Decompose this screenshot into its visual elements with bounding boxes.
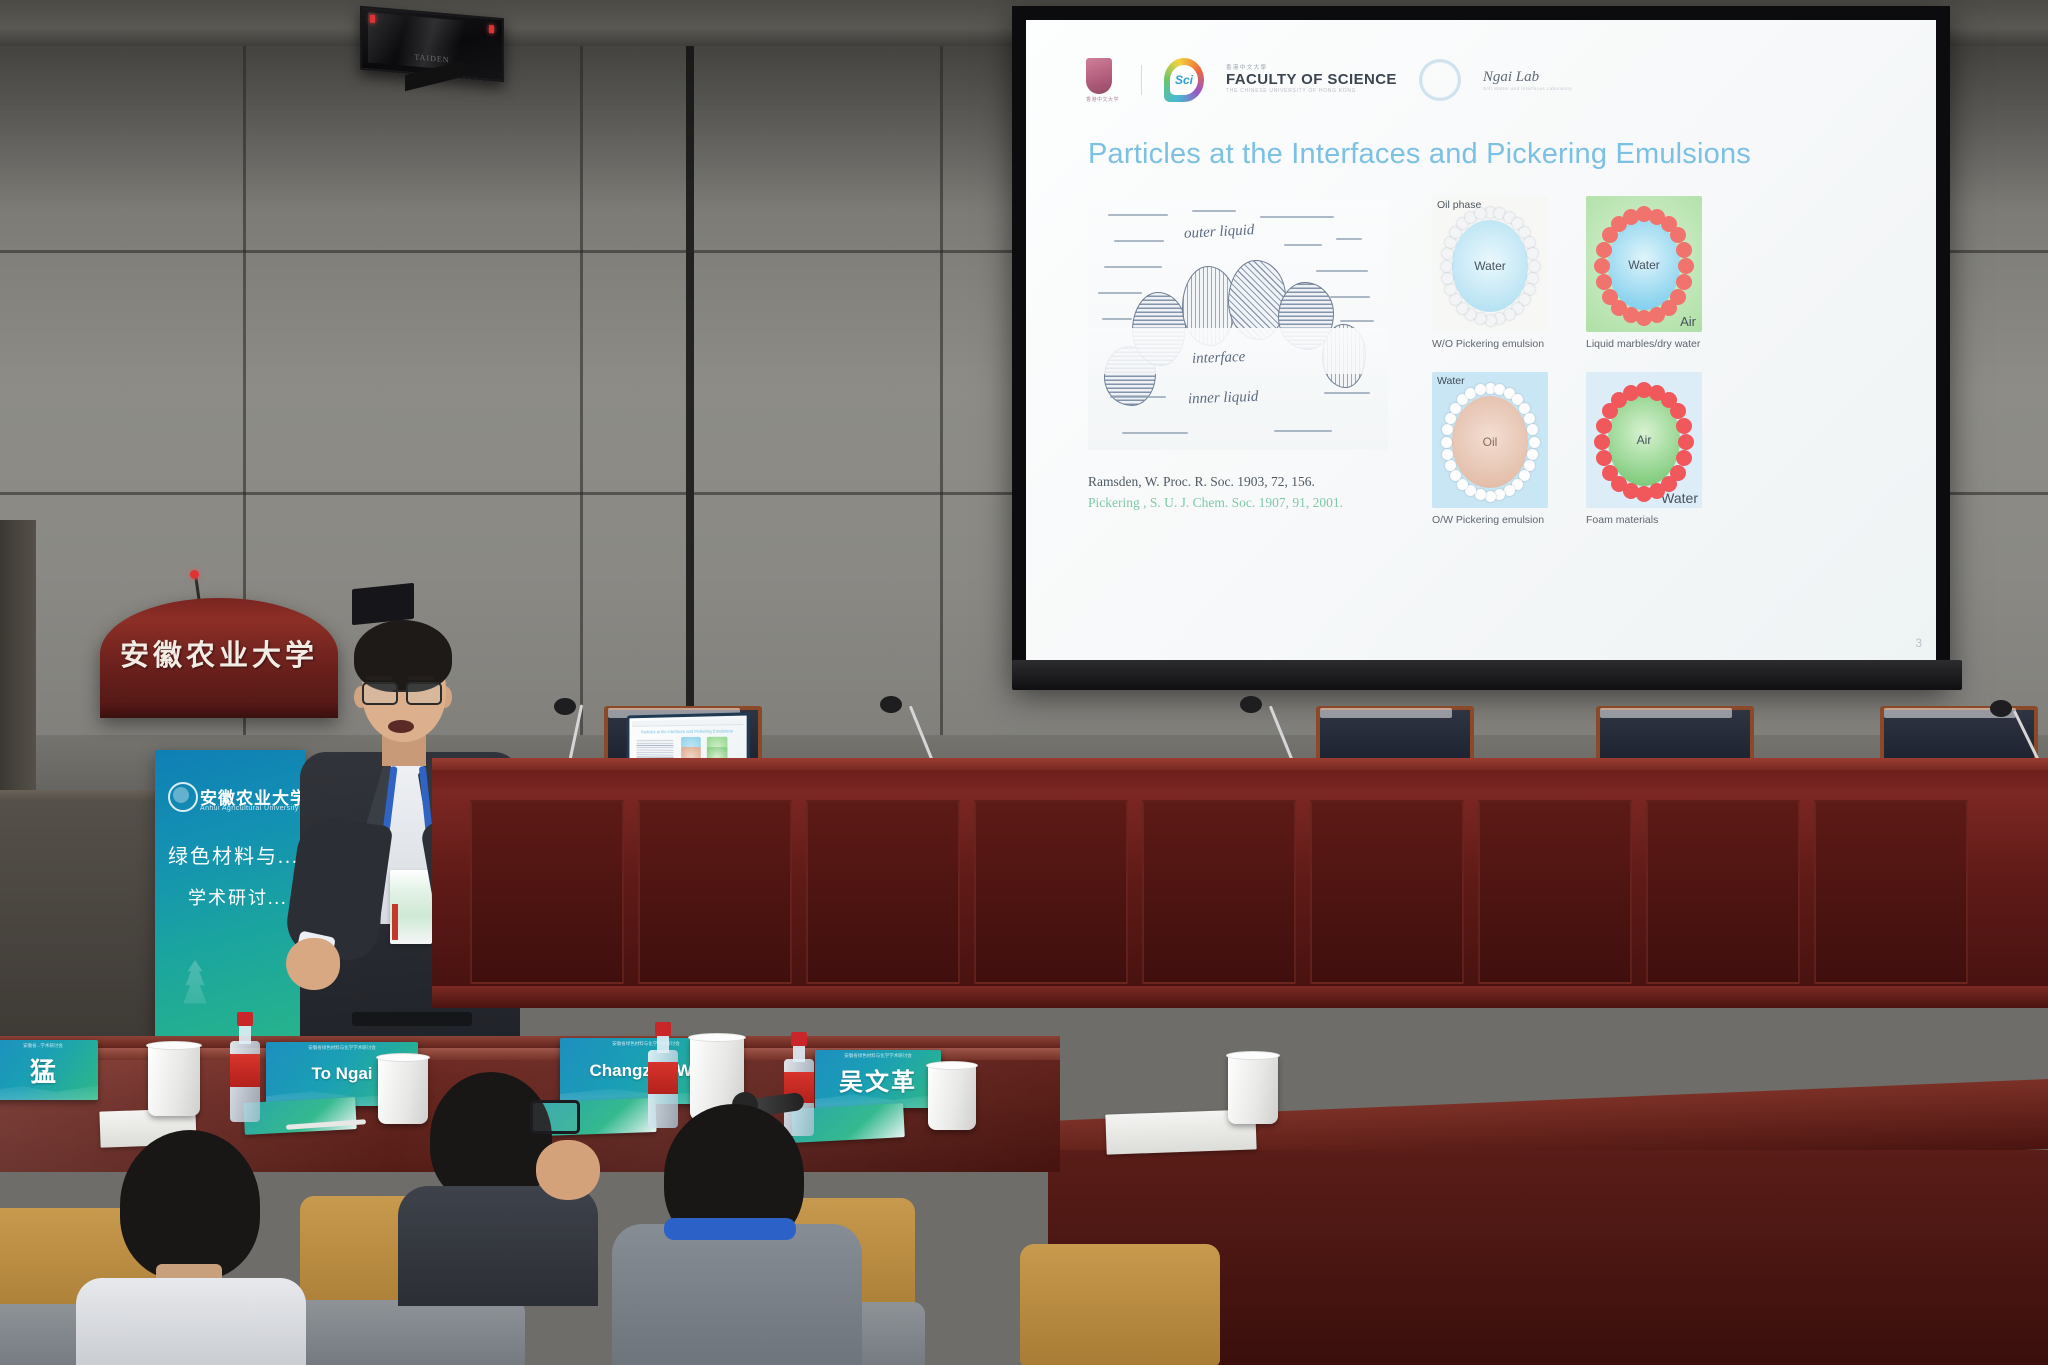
interface-hand-drawing: outer liquid interface inner liquid [1088,200,1388,450]
audience-hand [536,1140,600,1200]
table-panel [1478,800,1632,984]
panel-corner-label: Oil phase [1437,199,1481,211]
paper-cup [1228,1054,1278,1124]
particle-bead [1442,449,1453,460]
particle-bead [1623,209,1639,225]
particle-bead [1527,449,1538,460]
speaker-mouth [388,720,414,733]
panel-ow-pickering: Water Oil O/W Pickering emulsion [1432,372,1548,526]
wall-seam [940,46,943,746]
label-outer-liquid: outer liquid [1184,222,1255,243]
particle-bead [1504,485,1515,496]
audience-shirt [612,1224,862,1365]
paper-cup [148,1044,200,1116]
speaker-hand-left [286,938,340,990]
particle-bead [1445,460,1456,471]
faculty-wordmark: 香港中文大學 FACULTY OF SCIENCE THE CHINESE UN… [1226,66,1397,94]
particle-bead [1596,242,1612,258]
table-panel [638,800,792,984]
speaker-brow [366,676,392,680]
cuhk-logo: 香港中文大学 [1086,58,1119,103]
water-bottle [648,1022,678,1128]
microphone-head-icon [554,698,576,715]
particle-bead [1529,437,1540,448]
panel-corner-label: Air [1680,314,1696,329]
speaker-glasses [362,682,398,705]
particle-bead [1504,309,1515,320]
paper-cup [928,1064,976,1130]
placard-subtitle: 安徽省绿色材料与化学学术研讨会 [815,1053,941,1059]
particle-bead [1594,434,1610,450]
audience-shirt [76,1278,306,1365]
water-bottle [230,1012,260,1122]
particle-bead [1445,237,1456,248]
particle-bead [1527,273,1538,284]
panel-corner-label: Water [1437,375,1465,387]
speaker-belt [352,1012,472,1026]
particle-bead [1596,418,1612,434]
water-bottle [784,1032,814,1136]
sci-mark-label: Sci [1170,65,1198,95]
power-led-icon [370,15,375,23]
cuhk-logo-caption: 香港中文大学 [1086,96,1119,103]
speaker-brow [408,676,434,680]
panel-liquid-marbles: Air Water Liquid marbles/dry water [1586,196,1702,350]
particle-bead [1594,258,1610,274]
particle-bead [1485,315,1496,326]
panel-caption: Liquid marbles/dry water [1586,338,1702,350]
podium-indicator-icon [190,570,199,579]
panel-core-label: Water [1452,220,1528,312]
speaker-glasses [406,682,442,705]
particle-bead [1529,261,1540,272]
laptop-slide-title: Particles at the Interfaces and Pickerin… [635,728,740,734]
slide-page-number: 3 [1915,636,1922,650]
table-panel [1142,800,1296,984]
particle-bead [1442,273,1453,284]
presentation-slide: 香港中文大学 Sci 香港中文大學 FACULTY OF SCIENCE THE… [1026,20,1936,660]
placard-name: To Ngai [311,1064,372,1084]
particle-bead [1527,248,1538,259]
audience-lanyard [664,1218,796,1240]
table-panel [470,800,624,984]
panel-core-label: Oil [1452,396,1528,488]
podium-monitor [352,583,414,626]
placard-name: 猛 [30,1052,56,1089]
particle-bead [1457,303,1468,314]
audience-jacket [398,1186,598,1306]
particle-bead [1602,465,1618,481]
particle-bead [1485,491,1496,502]
panel-caption: W/O Pickering emulsion [1432,338,1548,350]
reference-pickering: Pickering , S. U. J. Chem. Soc. 1907, 91… [1088,493,1343,514]
microphone-head-icon [1990,700,2012,717]
slide-logo-row: 香港中文大学 Sci 香港中文大學 FACULTY OF SCIENCE THE… [1086,52,1572,108]
projection-screen: 香港中文大学 Sci 香港中文大學 FACULTY OF SCIENCE THE… [1026,20,1936,660]
particle-bead [1475,489,1486,500]
particle-bead [1441,437,1452,448]
reference-ramsden: Ramsden, W. Proc. R. Soc. 1903, 72, 156. [1088,472,1343,493]
particle-bead [1623,385,1639,401]
particle-bead [1596,450,1612,466]
panel-wo-pickering: Oil phase Water W/O Pickering emulsion [1432,196,1548,350]
panel-caption: Foam materials [1586,514,1702,526]
laptop-menubar [632,719,743,727]
table-panel [1310,800,1464,984]
particle-bead [1445,413,1456,424]
particle-bead [1475,313,1486,324]
wall-seam [580,46,583,746]
microphone-head-icon [880,696,902,713]
particle-bead [1602,289,1618,305]
badge-red-stripe [392,904,398,940]
banner-org-en: Anhui Agricultural University [200,805,299,812]
cuhk-shield-icon [1086,58,1112,94]
particle-bead [1441,261,1452,272]
wall-seam-dark [686,46,694,746]
particle-bead [1524,413,1535,424]
table-panel [806,800,960,984]
particle-bead [1678,258,1694,274]
label-inner-liquid: inner liquid [1188,389,1259,408]
particle-bead [1676,418,1692,434]
banner-line-1: 绿色材料与... [168,840,299,869]
particle-bead [1494,313,1505,324]
ngai-lab-wordmark: Ngai Lab Soft Matter and Interfaces Labo… [1483,69,1572,91]
eyeglasses-icon [530,1100,580,1134]
glasses-bridge [393,690,407,692]
panel-caption: O/W Pickering emulsion [1432,514,1548,526]
power-led-icon [489,25,494,33]
particle-bead [1442,424,1453,435]
banner-logo-inner [173,787,189,803]
reference-list: Ramsden, W. Proc. R. Soc. 1903, 72, 156.… [1088,472,1343,514]
particle-bead [1678,434,1694,450]
projection-screen-case [1012,660,1962,690]
placard-name: 吴文革 [839,1062,917,1097]
particle-bead [1445,284,1456,295]
particle-bead [1442,248,1453,259]
banner-line-2: 学术研讨... [188,884,288,910]
name-placard-meng: 安徽省...学术研讨会 猛 [0,1040,98,1100]
particle-bead [1524,237,1535,248]
panel-corner-label: Water [1661,490,1698,506]
ngai-lab-ring-icon [1419,59,1461,101]
lecture-hall-photo: TAIDEN 香港中文大学 Sci 香港中文大學 FACULTY OF SCIE… [0,0,2048,1365]
panel-foam-materials: Water Air Foam materials [1586,372,1702,526]
logo-divider [1141,65,1142,95]
slide-title: Particles at the Interfaces and Pickerin… [1088,138,1751,171]
placard-subtitle: 安徽省...学术研讨会 [0,1043,98,1049]
faculty-name: FACULTY OF SCIENCE [1226,72,1397,88]
particle-bead [1494,489,1505,500]
sci-badge-icon: Sci [1164,58,1204,102]
ngai-lab-sub: Soft Matter and Interfaces Laboratory [1483,86,1572,91]
particle-bead [1676,242,1692,258]
faculty-sub-bottom: THE CHINESE UNIVERSITY OF HONG KONG [1226,89,1397,94]
particle-bead [1475,384,1486,395]
name-placard-wuwenge: 安徽省绿色材料与化学学术研讨会 吴文革 [815,1050,941,1108]
table-panel [974,800,1128,984]
particle-bead [1676,274,1692,290]
particle-bead [1596,274,1612,290]
particle-bead [1527,424,1538,435]
particle-bead [1457,479,1468,490]
label-interface: interface [1192,349,1246,368]
conference-booklet [243,1097,357,1135]
placard-subtitle: 安徽省绿色材料与化学学术研讨会 [266,1045,418,1051]
table-panel [1814,800,1968,984]
microphone-head-icon [1240,696,1262,713]
paper-cup [378,1056,428,1124]
particle-bead [1676,450,1692,466]
ngai-lab-name: Ngai Lab [1483,69,1572,86]
table-panel [1646,800,1800,984]
head-table-rail [432,986,2048,1008]
placard-name: Changzhu Wu [590,1061,703,1081]
particle-bead [1475,208,1486,219]
side-door[interactable] [0,520,36,820]
